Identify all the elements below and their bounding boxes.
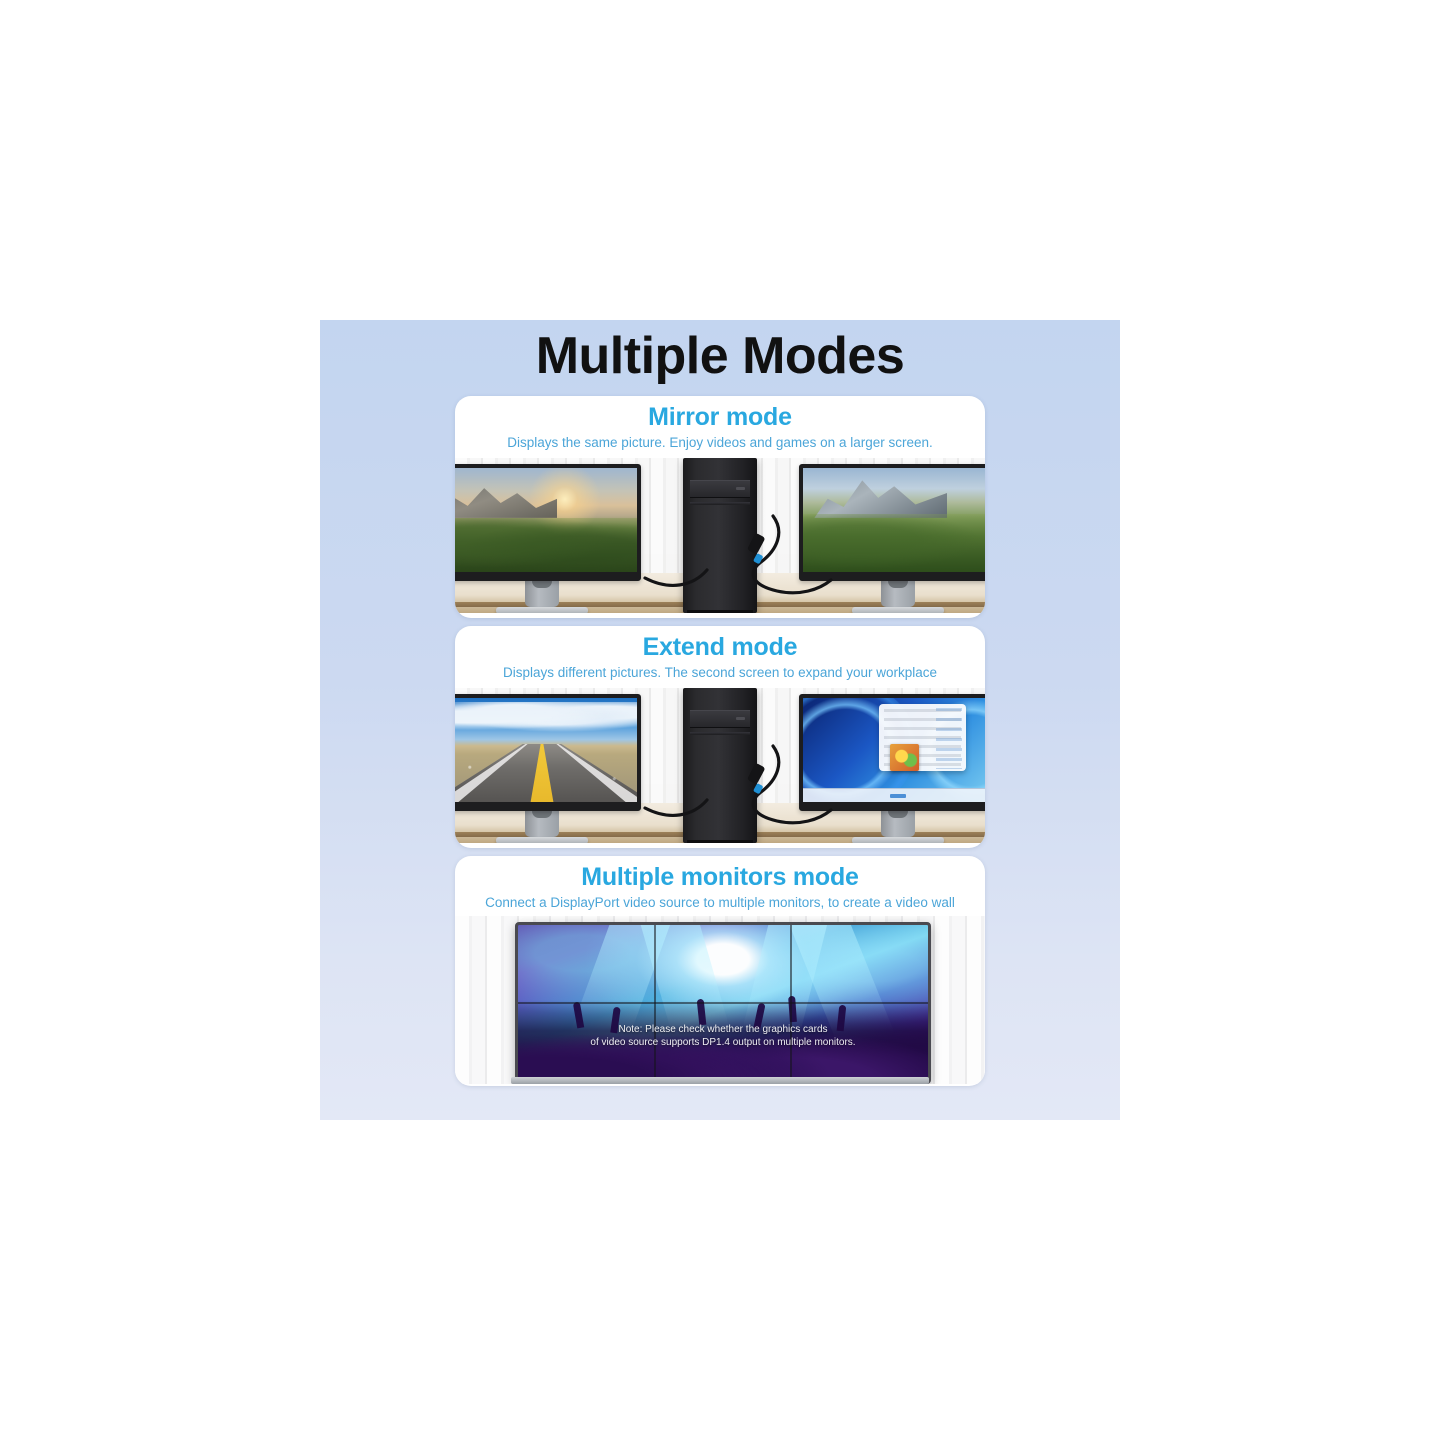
card-mirror-mode[interactable]: Mirror mode Displays the same picture. E…: [455, 396, 985, 618]
video-wall-note: Note: Please check whether the graphics …: [518, 1023, 928, 1050]
card-multiple-monitors-mode[interactable]: Multiple monitors mode Connect a Display…: [455, 856, 985, 1086]
page-title: Multiple Modes: [320, 330, 1120, 382]
windows-taskbar: [803, 788, 985, 801]
road-clouds: [455, 702, 637, 733]
pc-tower-foot: [687, 840, 753, 843]
monitor-right-screen: [799, 694, 985, 811]
scene-mirror-mode: [455, 458, 985, 613]
monitor-left-screen: [455, 694, 641, 811]
monitor-stand-base: [852, 607, 944, 613]
video-wall-bezel-horizontal: [518, 1002, 928, 1004]
monitor-left-screen: [455, 464, 641, 581]
modes-panel: Multiple Modes Mirror mode Displays the …: [320, 320, 1120, 1120]
card-subtitle-mirror-mode: Displays the same picture. Enjoy videos …: [455, 435, 985, 451]
photo-thumbnail: [890, 744, 919, 771]
pc-tower-drive-bay: [690, 480, 750, 498]
video-wall-base: [511, 1077, 929, 1084]
scene-video-wall: Note: Please check whether the graphics …: [455, 916, 985, 1084]
scene-extend-mode: [455, 688, 985, 843]
card-title-extend-mode: Extend mode: [455, 633, 985, 662]
card-header: Mirror mode Displays the same picture. E…: [455, 396, 985, 451]
card-title-multiple-monitors-mode: Multiple monitors mode: [455, 863, 985, 892]
monitor-stand-base: [496, 607, 588, 613]
screen-art-mountain-sunset: [455, 468, 637, 572]
monitor-right: [799, 694, 985, 843]
monitor-stand-neck: [525, 581, 559, 607]
pc-tower-vent: [690, 732, 750, 735]
road-gravel: [455, 744, 637, 802]
monitor-stand-neck: [525, 811, 559, 837]
pc-tower-foot: [687, 610, 753, 613]
card-header: Extend mode Displays different pictures.…: [455, 626, 985, 681]
card-extend-mode[interactable]: Extend mode Displays different pictures.…: [455, 626, 985, 848]
video-wall-backdrop: Note: Please check whether the graphics …: [455, 916, 985, 1084]
card-subtitle-multiple-monitors-mode: Connect a DisplayPort video source to mu…: [455, 895, 985, 911]
monitor-right: [799, 464, 985, 613]
monitor-stand-neck: [881, 811, 915, 837]
window-sidebar: [936, 708, 962, 769]
card-header: Multiple monitors mode Connect a Display…: [455, 856, 985, 911]
monitor-right-screen: [799, 464, 985, 581]
monitor-stand-base: [496, 837, 588, 843]
pc-tower-vent: [690, 502, 750, 505]
pc-tower: [683, 688, 757, 843]
video-wall: Note: Please check whether the graphics …: [515, 922, 931, 1084]
monitor-left: [455, 694, 641, 843]
card-subtitle-extend-mode: Displays different pictures. The second …: [455, 665, 985, 681]
pc-tower: [683, 458, 757, 613]
video-wall-note-line-1: Note: Please check whether the graphics …: [548, 1023, 898, 1037]
monitor-left: [455, 464, 641, 613]
monitor-stand-neck: [881, 581, 915, 607]
infographic-canvas: Multiple Modes Mirror mode Displays the …: [0, 0, 1440, 1440]
screen-art-green-alpine: [803, 468, 985, 572]
monitor-stand-base: [852, 837, 944, 843]
screen-art-windows-desktop: [803, 698, 985, 802]
pc-tower-drive-bay: [690, 710, 750, 728]
card-title-mirror-mode: Mirror mode: [455, 403, 985, 432]
screen-art-desert-road: [455, 698, 637, 802]
video-wall-note-line-2: of video source supports DP1.4 output on…: [548, 1036, 898, 1050]
